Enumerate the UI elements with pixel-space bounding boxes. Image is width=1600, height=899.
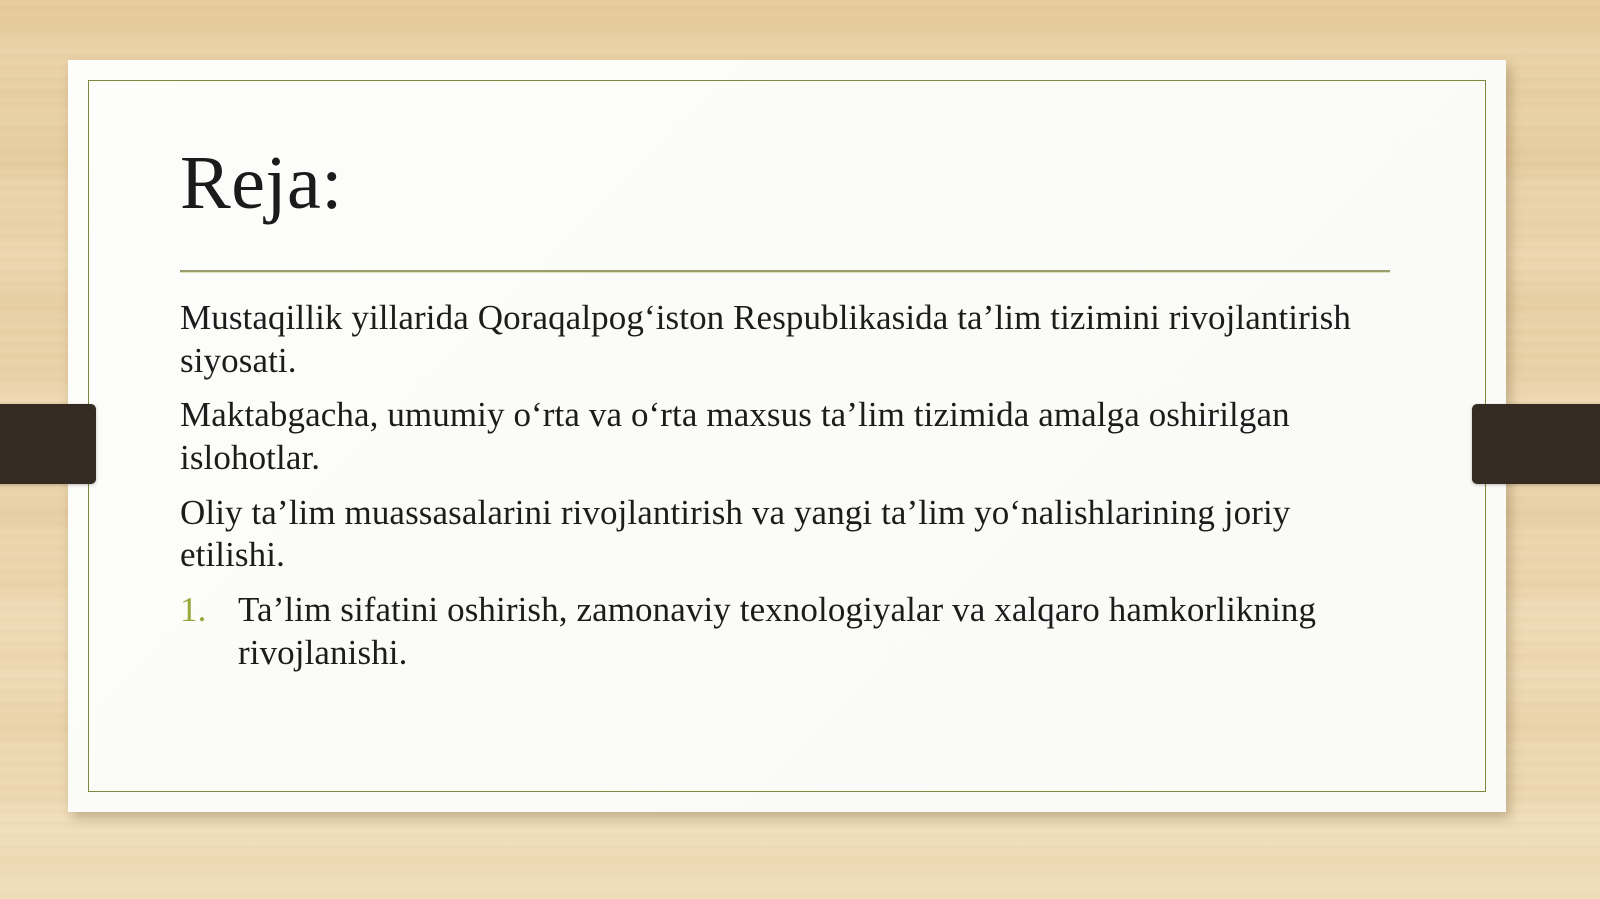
body-paragraph: Maktabgacha, umumiy o‘rta va o‘rta maxsu… xyxy=(180,394,1402,479)
body-paragraph: Mustaqillik yillarida Qoraqalpog‘iston R… xyxy=(180,297,1402,382)
body-paragraph: Oliy ta’lim muassasalarini rivojlantiris… xyxy=(180,492,1402,577)
title-divider xyxy=(180,270,1390,273)
decorative-bar-left xyxy=(0,404,96,484)
list-item: 1. Ta’lim sifatini oshirish, zamonaviy t… xyxy=(180,589,1402,674)
slide-content: Reja: Mustaqillik yillarida Qoraqalpog‘i… xyxy=(180,145,1402,675)
page-title: Reja: xyxy=(180,145,1402,221)
slide-body: Mustaqillik yillarida Qoraqalpog‘iston R… xyxy=(180,297,1402,675)
slide-card: Reja: Mustaqillik yillarida Qoraqalpog‘i… xyxy=(68,60,1506,812)
list-item-marker: 1. xyxy=(180,589,238,632)
list-item-label: Ta’lim sifatini oshirish, zamonaviy texn… xyxy=(238,589,1402,674)
decorative-bar-right xyxy=(1472,404,1600,484)
presentation-stage: Reja: Mustaqillik yillarida Qoraqalpog‘i… xyxy=(0,0,1600,899)
